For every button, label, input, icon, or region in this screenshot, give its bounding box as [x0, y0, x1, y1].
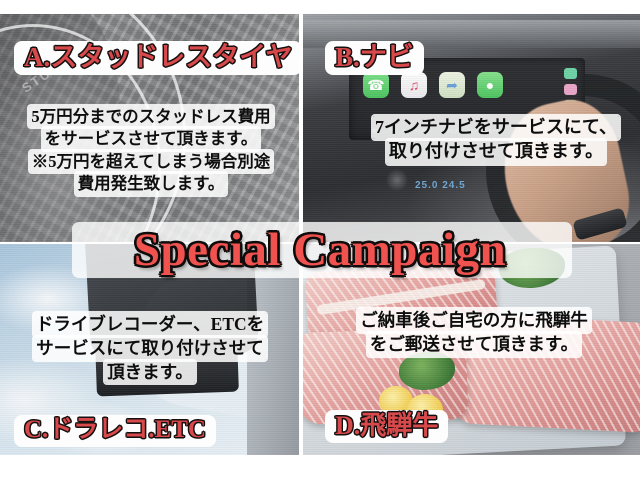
panel-d-body-line: ご納車後ご自宅の方に飛騨牛 — [358, 309, 590, 332]
headline-special-campaign: Special Campaign — [0, 224, 640, 276]
panel-d-body-line: をご郵送させて頂きます。 — [368, 333, 580, 356]
panel-a-body-line: 費用発生致します。 — [76, 173, 227, 194]
panel-a-body: 5万円分までのスタッドレス費用 をサービスさせて頂きます。 ※5万円を超えてしま… — [12, 106, 290, 196]
panel-a-body-line: をサービスさせて頂きます。 — [43, 128, 260, 149]
panel-c-body-line: ドライブレコーダー、ETCを — [34, 313, 266, 336]
panel-d-label: D.飛騨牛 — [325, 410, 448, 443]
panel-b-label: B.ナビ — [325, 41, 424, 75]
bottom-white-band — [0, 455, 640, 480]
panel-c-body-line: サービスにて取り付けさせて — [34, 337, 266, 360]
panel-c-body: ドライブレコーダー、ETCを サービスにて取り付けさせて 頂きます。 — [6, 313, 294, 384]
music-icon: ♫ — [401, 72, 427, 98]
panel-c-body-line: 頂きます。 — [105, 361, 195, 384]
panel-a-studless-tires: STUDLESS A.スタッドレスタイヤ 5万円分までのスタッドレス費用 をサー… — [0, 14, 299, 242]
panel-a-label: A.スタッドレスタイヤ — [14, 41, 299, 75]
top-white-band — [0, 0, 640, 14]
side-widget-icon — [564, 68, 577, 79]
phone-icon: ☎ — [363, 72, 389, 98]
panel-b-body-line: 取り付けさせて頂きます。 — [387, 140, 605, 163]
climate-readout: 25.0 24.5 — [415, 180, 466, 191]
side-widget-icon — [564, 84, 577, 95]
panel-a-body-line: ※5万円を超えてしまう場合別途 — [30, 151, 272, 172]
panel-d-body: ご納車後ご自宅の方に飛騨牛 をご郵送させて頂きます。 — [319, 309, 629, 357]
panel-b-body: 7インチナビをサービスにて、 取り付けさせて頂きます。 — [361, 116, 631, 165]
panel-b-navigation: ☎ ♫ ➦ ● 電話 ミュージック マップ メッセージ 25.0 — [303, 14, 640, 242]
campaign-poster: STUDLESS A.スタッドレスタイヤ 5万円分までのスタッドレス費用 をサー… — [0, 0, 640, 480]
panel-b-body-line: 7インチナビをサービスにて、 — [373, 116, 619, 139]
panel-a-body-line: 5万円分までのスタッドレス費用 — [29, 106, 272, 127]
carplay-icon-row: ☎ ♫ ➦ ● — [363, 72, 503, 98]
messages-icon: ● — [477, 72, 503, 98]
panel-c-label: C.ドラレコ.ETC — [14, 415, 216, 447]
maps-icon: ➦ — [439, 72, 465, 98]
